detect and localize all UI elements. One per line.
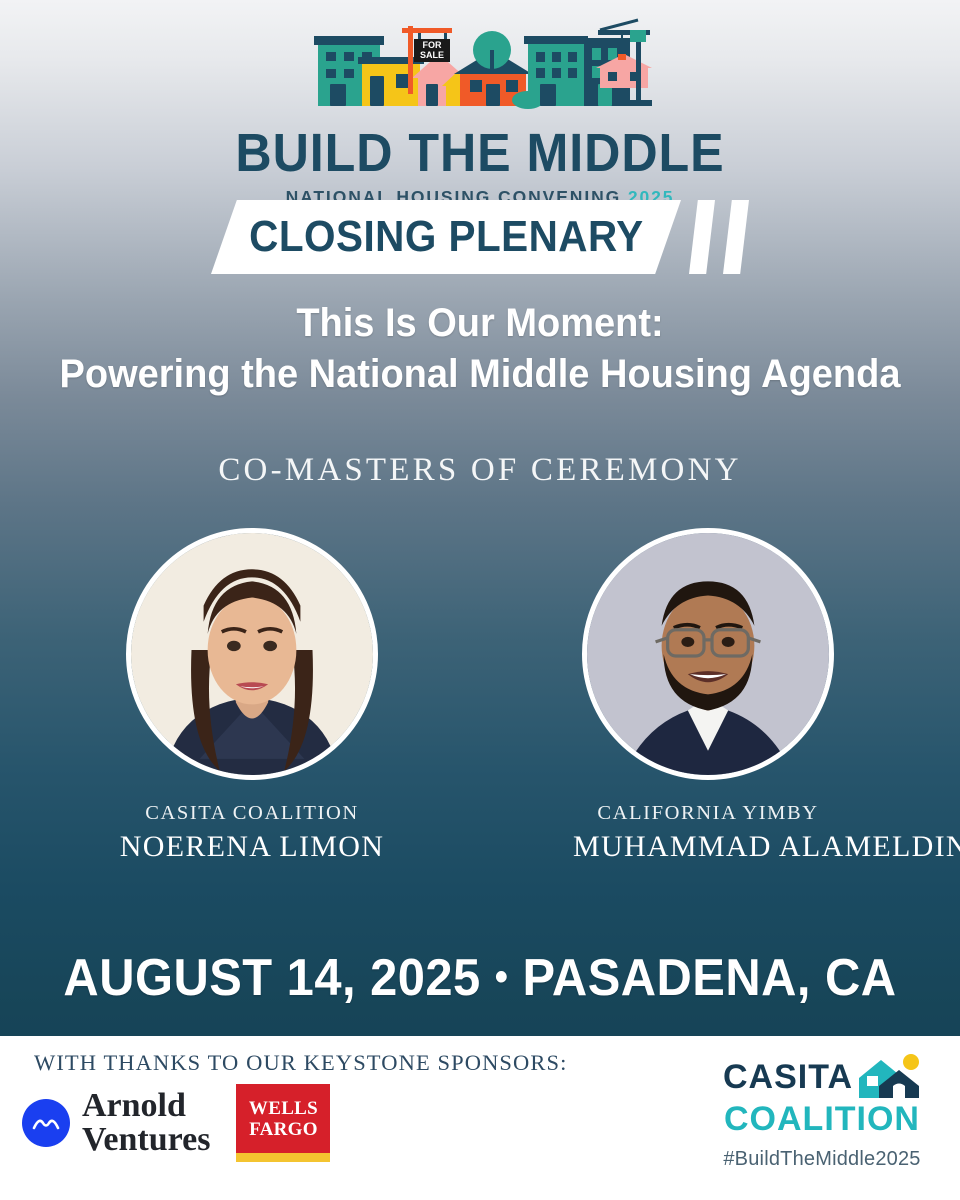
- session-title-line2: Powering the National Middle Housing Age…: [24, 349, 936, 400]
- wells-fargo-line1: WELLS: [242, 1098, 324, 1119]
- slash-accent-2: [723, 200, 749, 274]
- casita-coalition-logo: CASITA COALITION #BuildTheMiddle2025: [706, 1054, 938, 1171]
- wells-fargo-box: WELLS FARGO: [236, 1084, 330, 1153]
- speaker-name: MUHAMMAD ALAMELDIN: [573, 830, 843, 864]
- streetscape-illustration: FOR SALE: [300, 14, 660, 124]
- logo-title: BUILD THE MIDDLE: [235, 126, 724, 180]
- arnold-ventures-wordmark: Arnold Ventures: [82, 1089, 210, 1156]
- sponsor-arnold-ventures: Arnold Ventures: [22, 1089, 210, 1156]
- for-sale-line1: FOR: [423, 40, 442, 50]
- speaker-name: NOERENA LIMON: [117, 830, 387, 864]
- portrait-muhammad-alameldin: [582, 528, 834, 780]
- speaker-org: CASITA COALITION: [117, 802, 387, 825]
- sponsor-wells-fargo: WELLS FARGO: [236, 1084, 330, 1162]
- headshot-illustration: [587, 533, 829, 775]
- role-label: CO-MASTERS OF CEREMONY: [0, 452, 960, 489]
- session-title: This Is Our Moment: Powering the Nationa…: [24, 298, 936, 400]
- wells-fargo-yellow-bar: [236, 1153, 330, 1162]
- sponsors-heading: WITH THANKS TO OUR KEYSTONE SPONSORS:: [34, 1050, 567, 1076]
- casita-top-row: CASITA: [706, 1054, 938, 1100]
- headshot-illustration: [131, 533, 373, 775]
- banner-shape: CLOSING PLENARY: [211, 200, 681, 274]
- event-promo-poster: FOR SALE: [0, 0, 960, 1200]
- banner-label: CLOSING PLENARY: [249, 212, 643, 262]
- event-logo: FOR SALE: [0, 14, 960, 208]
- event-date-location: AUGUST 14, 2025 • PASADENA, CA: [29, 948, 931, 1008]
- sponsor-logos: Arnold Ventures WELLS FARGO: [22, 1084, 330, 1162]
- event-location: PASADENA, CA: [522, 949, 896, 1007]
- av-monogram-icon: [31, 1114, 61, 1132]
- closing-plenary-banner: CLOSING PLENARY: [0, 200, 960, 274]
- arnold-ventures-mark-icon: [22, 1099, 70, 1147]
- speaker-card: CASITA COALITION NOERENA LIMON: [117, 528, 387, 864]
- house-icon: [859, 1054, 921, 1100]
- wells-fargo-line2: FARGO: [242, 1119, 324, 1140]
- casita-wordmark: CASITA: [723, 1060, 853, 1094]
- speaker-list: CASITA COALITION NOERENA LIMON: [0, 528, 960, 864]
- session-title-line1: This Is Our Moment:: [24, 298, 936, 349]
- event-date: AUGUST 14, 2025: [63, 949, 480, 1007]
- event-hashtag: #BuildTheMiddle2025: [706, 1148, 938, 1171]
- speaker-card: CALIFORNIA YIMBY MUHAMMAD ALAMELDIN: [573, 528, 843, 864]
- portrait-noerena-limon: [126, 528, 378, 780]
- separator-dot: •: [495, 955, 509, 999]
- sponsor-footer: WITH THANKS TO OUR KEYSTONE SPONSORS: Ar…: [0, 1036, 960, 1200]
- arnold-line2: Ventures: [82, 1123, 210, 1156]
- arnold-line1: Arnold: [82, 1089, 210, 1122]
- for-sale-line2: SALE: [420, 50, 444, 60]
- coalition-wordmark: COALITION: [706, 1102, 938, 1138]
- speaker-org: CALIFORNIA YIMBY: [573, 802, 843, 825]
- slash-accent-1: [689, 200, 715, 274]
